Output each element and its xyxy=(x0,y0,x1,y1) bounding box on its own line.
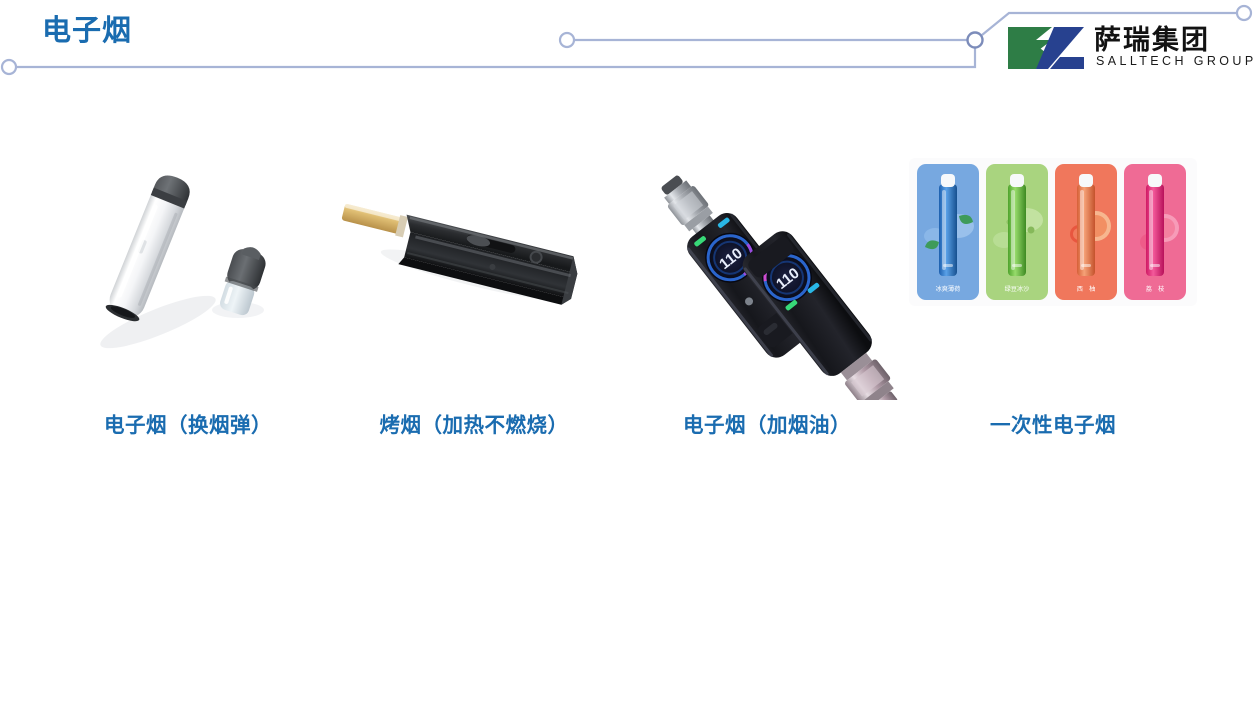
svg-text:荔 枝: 荔 枝 xyxy=(1146,285,1165,293)
deco-node-mid xyxy=(560,33,574,47)
product-caption-heat-not-burn: 烤烟（加热不燃烧） xyxy=(324,408,624,438)
svg-text:绿豆冰沙: 绿豆冰沙 xyxy=(1005,285,1030,293)
product-card-disposable-vape[interactable]: 冰爽薄荷 绿豆冰沙 xyxy=(903,150,1203,470)
deco-lower-rail xyxy=(16,41,975,67)
brand-logo: 萨瑞集团 SALLTECH GROUP xyxy=(1006,18,1246,78)
product-card-pod-vape[interactable]: 电子烟（换烟弹） xyxy=(38,150,338,470)
product-grid: 电子烟（换烟弹） xyxy=(0,150,1257,470)
deco-node-left xyxy=(2,60,16,74)
flavor-tile-4: 荔 枝 xyxy=(1124,164,1186,300)
product-caption-pod-vape: 电子烟（换烟弹） xyxy=(38,408,338,438)
deco-node-junction xyxy=(968,33,983,48)
flavor-tile-1: 冰爽薄荷 xyxy=(917,164,979,300)
product-image-pod-vape xyxy=(38,150,338,400)
flavor-tile-2: 绿豆冰沙 xyxy=(986,164,1048,300)
product-caption-e-liquid-vape: 电子烟（加烟油） xyxy=(617,408,917,438)
page-header: 电子烟 萨瑞集团 SALLTECH GROUP xyxy=(0,0,1257,95)
product-card-heat-not-burn[interactable]: 烤烟（加热不燃烧） xyxy=(324,150,624,470)
product-caption-disposable-vape: 一次性电子烟 xyxy=(903,408,1203,438)
logo-name-cn: 萨瑞集团 xyxy=(1094,18,1210,57)
flavor-tile-3: 西 柚 xyxy=(1055,164,1117,300)
svg-text:冰爽薄荷: 冰爽薄荷 xyxy=(936,285,961,293)
salltech-logo-icon xyxy=(1006,25,1086,71)
page-title: 电子烟 xyxy=(42,14,132,49)
product-image-e-liquid-vape: 110 110 xyxy=(617,150,917,400)
product-image-heat-not-burn xyxy=(324,150,624,400)
product-card-e-liquid-vape[interactable]: 110 110 xyxy=(617,150,917,470)
logo-name-en: SALLTECH GROUP xyxy=(1096,54,1257,68)
svg-text:西 柚: 西 柚 xyxy=(1077,285,1096,293)
product-image-disposable-vape: 冰爽薄荷 绿豆冰沙 xyxy=(903,150,1203,400)
